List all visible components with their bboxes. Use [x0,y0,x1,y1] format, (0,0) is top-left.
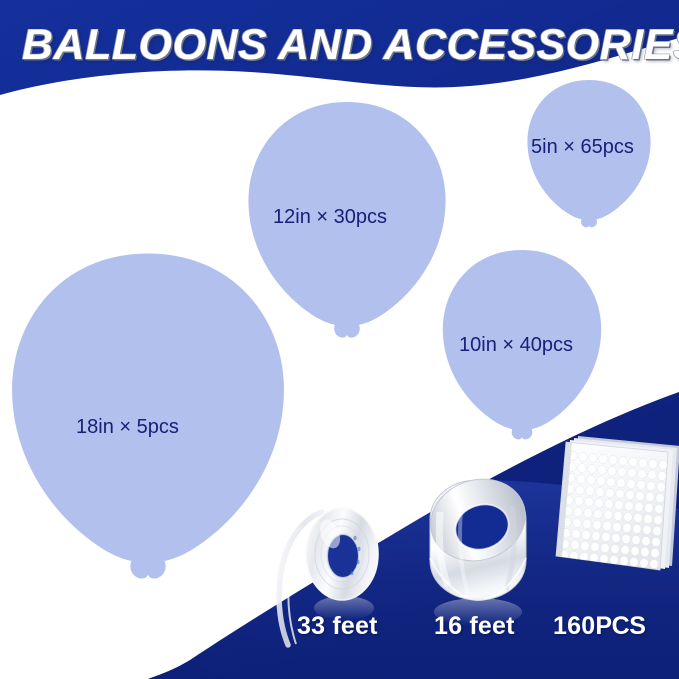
ribbon-tape-roll [279,508,378,645]
accessory-group [0,0,679,679]
tape-reflection [314,596,374,620]
glue-dot-sheets [556,436,679,580]
product-infographic: BALLOONS AND ACCESSORIES 18in × 5pcs 12i… [0,0,679,679]
wide-tape-reflection [434,598,522,626]
wide-tape-roll [420,467,536,626]
